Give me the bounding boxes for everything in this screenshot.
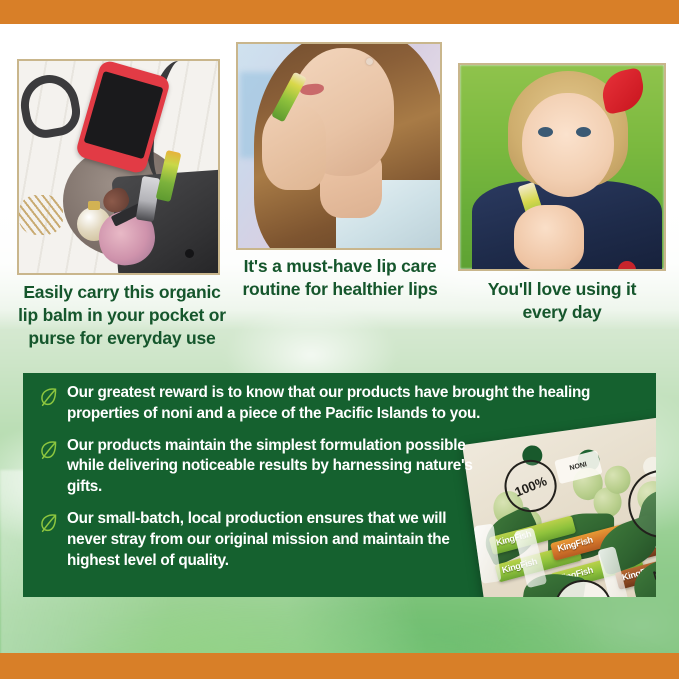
- woman-hand: [262, 106, 326, 190]
- toddler-hands: [514, 205, 584, 271]
- promise-bullet-text: Our small-batch, local production ensure…: [67, 509, 487, 571]
- earring: [366, 58, 373, 65]
- leaf-icon: [37, 438, 61, 462]
- promise-bullet-list: Our greatest reward is to know that our …: [37, 383, 656, 582]
- leaf-icon: [37, 511, 61, 535]
- gallery-image-toddler-with-balm: [458, 63, 666, 271]
- toddler-eye-left: [538, 127, 553, 137]
- toddler-eye-right: [576, 127, 591, 137]
- promise-bullet: Our greatest reward is to know that our …: [37, 383, 656, 425]
- bottom-orange-rule: [0, 653, 679, 679]
- promise-bullet-text: Our greatest reward is to know that our …: [67, 383, 647, 425]
- toddler-face: [522, 93, 614, 197]
- gallery-image-woman-applying-balm: [236, 42, 442, 250]
- brand-promise-panel: KingFish KingFish KingFish KingFish King…: [23, 373, 656, 597]
- gallery-caption-woman-applying-balm: It's a must-have lip care routine for he…: [232, 255, 448, 301]
- leaf-icon: [37, 385, 61, 409]
- promise-bullet: Our products maintain the simplest formu…: [37, 436, 656, 498]
- gallery-image-handbag-flatlay: [17, 59, 220, 275]
- gallery-caption-handbag-flatlay: Easily carry this organic lip balm in yo…: [8, 281, 236, 349]
- bag-stud: [185, 249, 194, 258]
- gallery-caption-toddler-with-balm: You'll love using it every day: [452, 278, 672, 324]
- top-orange-rule: [0, 0, 679, 24]
- twine-bundle: [19, 195, 63, 235]
- infographic-page: Easily carry this organic lip balm in yo…: [0, 0, 679, 679]
- promise-bullet-text: Our products maintain the simplest formu…: [67, 436, 487, 498]
- promise-bullet: Our small-batch, local production ensure…: [37, 509, 656, 571]
